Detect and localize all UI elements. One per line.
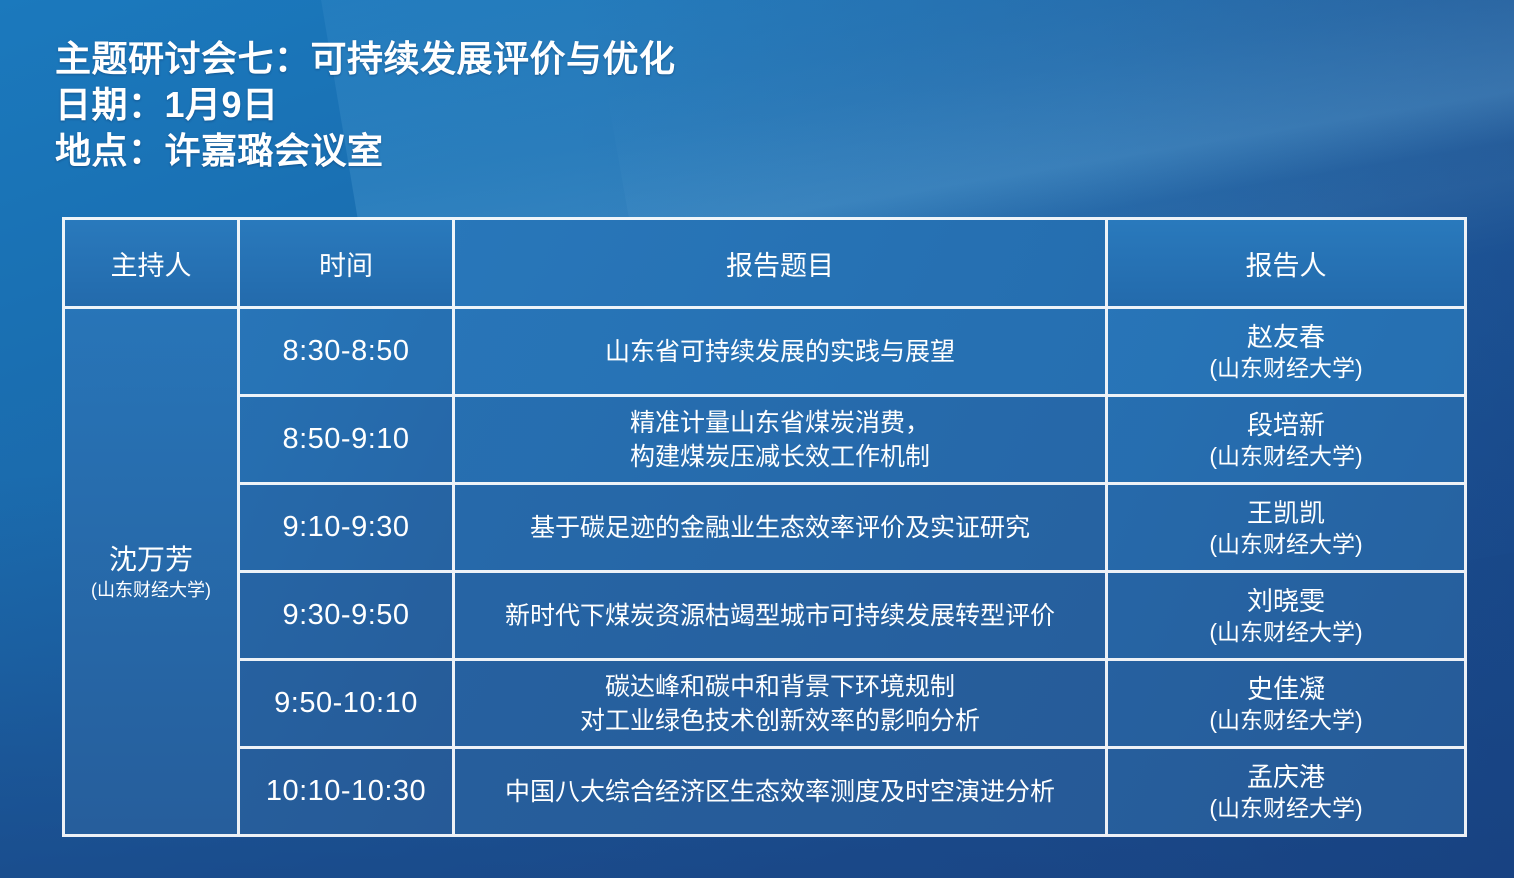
topic-line: 精准计量山东省煤炭消费， [463, 406, 1097, 440]
column-header-speaker: 报告人 [1108, 220, 1464, 306]
row-time: 9:10-9:30 [240, 485, 452, 570]
row-topic: 碳达峰和碳中和背景下环境规制 对工业绿色技术创新效率的影响分析 [455, 661, 1105, 746]
table-header-row: 主持人 时间 报告题目 报告人 [65, 220, 1464, 306]
host-cell: 沈万芳 (山东财经大学) [65, 309, 237, 834]
row-speaker: 孟庆港 (山东财经大学) [1108, 749, 1464, 834]
slide-canvas: 主题研讨会七：可持续发展评价与优化 日期：1月9日 地点：许嘉璐会议室 主持人 … [0, 0, 1514, 878]
column-header-host: 主持人 [65, 220, 237, 306]
row-speaker: 王凯凯 (山东财经大学) [1108, 485, 1464, 570]
row-time: 9:50-10:10 [240, 661, 452, 746]
topic-line: 对工业绿色技术创新效率的影响分析 [463, 704, 1097, 738]
agenda-table: 主持人 时间 报告题目 报告人 沈万芳 (山东财经大学) 8:30-8:50 山… [62, 217, 1467, 837]
row-time: 9:30-9:50 [240, 573, 452, 658]
speaker-affiliation: (山东财经大学) [1116, 793, 1456, 823]
row-time: 8:30-8:50 [240, 309, 452, 394]
row-time: 8:50-9:10 [240, 397, 452, 482]
column-header-time: 时间 [240, 220, 452, 306]
agenda-table-wrapper: 主持人 时间 报告题目 报告人 沈万芳 (山东财经大学) 8:30-8:50 山… [62, 217, 1452, 837]
host-affiliation: (山东财经大学) [73, 578, 229, 602]
speaker-name: 史佳凝 [1116, 673, 1456, 705]
slide-heading: 主题研讨会七：可持续发展评价与优化 日期：1月9日 地点：许嘉璐会议室 [55, 36, 676, 174]
speaker-affiliation: (山东财经大学) [1116, 705, 1456, 735]
topic-line: 基于碳足迹的金融业生态效率评价及实证研究 [463, 511, 1097, 545]
table-row: 9:50-10:10 碳达峰和碳中和背景下环境规制 对工业绿色技术创新效率的影响… [65, 661, 1464, 746]
session-title: 主题研讨会七：可持续发展评价与优化 [55, 36, 676, 82]
agenda-table-head: 主持人 时间 报告题目 报告人 [65, 220, 1464, 306]
topic-line: 碳达峰和碳中和背景下环境规制 [463, 670, 1097, 704]
speaker-name: 王凯凯 [1116, 497, 1456, 529]
speaker-affiliation: (山东财经大学) [1116, 617, 1456, 647]
speaker-name: 孟庆港 [1116, 761, 1456, 793]
row-speaker: 段培新 (山东财经大学) [1108, 397, 1464, 482]
speaker-affiliation: (山东财经大学) [1116, 353, 1456, 383]
row-speaker: 史佳凝 (山东财经大学) [1108, 661, 1464, 746]
row-topic: 精准计量山东省煤炭消费， 构建煤炭压减长效工作机制 [455, 397, 1105, 482]
table-row: 9:10-9:30 基于碳足迹的金融业生态效率评价及实证研究 王凯凯 (山东财经… [65, 485, 1464, 570]
table-row: 8:50-9:10 精准计量山东省煤炭消费， 构建煤炭压减长效工作机制 段培新 … [65, 397, 1464, 482]
row-speaker: 赵友春 (山东财经大学) [1108, 309, 1464, 394]
speaker-name: 段培新 [1116, 409, 1456, 441]
speaker-affiliation: (山东财经大学) [1116, 441, 1456, 471]
host-name: 沈万芳 [73, 542, 229, 578]
session-date: 日期：1月9日 [55, 82, 676, 128]
row-topic: 新时代下煤炭资源枯竭型城市可持续发展转型评价 [455, 573, 1105, 658]
topic-line: 构建煤炭压减长效工作机制 [463, 440, 1097, 474]
row-topic: 中国八大综合经济区生态效率测度及时空演进分析 [455, 749, 1105, 834]
topic-line: 山东省可持续发展的实践与展望 [463, 335, 1097, 369]
table-row: 沈万芳 (山东财经大学) 8:30-8:50 山东省可持续发展的实践与展望 赵友… [65, 309, 1464, 394]
table-row: 9:30-9:50 新时代下煤炭资源枯竭型城市可持续发展转型评价 刘晓雯 (山东… [65, 573, 1464, 658]
column-header-topic: 报告题目 [455, 220, 1105, 306]
row-time: 10:10-10:30 [240, 749, 452, 834]
session-venue: 地点：许嘉璐会议室 [55, 128, 676, 174]
speaker-name: 赵友春 [1116, 321, 1456, 353]
table-row: 10:10-10:30 中国八大综合经济区生态效率测度及时空演进分析 孟庆港 (… [65, 749, 1464, 834]
agenda-table-body: 沈万芳 (山东财经大学) 8:30-8:50 山东省可持续发展的实践与展望 赵友… [65, 309, 1464, 834]
row-topic: 山东省可持续发展的实践与展望 [455, 309, 1105, 394]
row-topic: 基于碳足迹的金融业生态效率评价及实证研究 [455, 485, 1105, 570]
topic-line: 新时代下煤炭资源枯竭型城市可持续发展转型评价 [463, 599, 1097, 633]
speaker-name: 刘晓雯 [1116, 585, 1456, 617]
topic-line: 中国八大综合经济区生态效率测度及时空演进分析 [463, 775, 1097, 809]
speaker-affiliation: (山东财经大学) [1116, 529, 1456, 559]
row-speaker: 刘晓雯 (山东财经大学) [1108, 573, 1464, 658]
